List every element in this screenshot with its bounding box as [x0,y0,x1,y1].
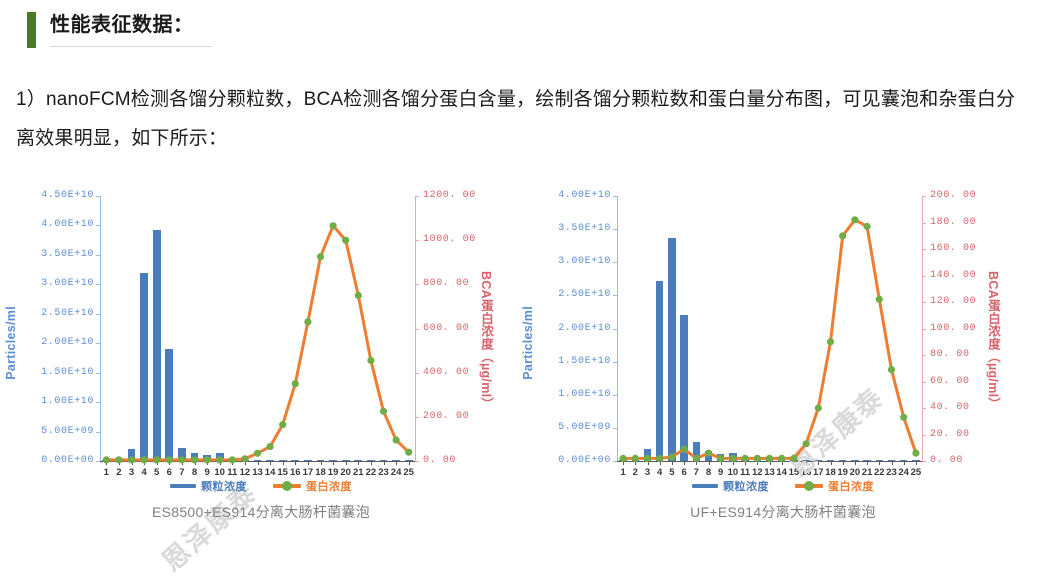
chart-particles-protein-right: 0.00E+005.00E+091.00E+101.50E+102.00E+10… [522,176,1044,476]
x-axis-tick [684,462,685,465]
bar [632,460,640,461]
bar [228,460,236,461]
legend-item-line: 蛋白浓度 [273,478,352,494]
data-point-marker [367,357,374,364]
bar [876,460,884,461]
data-point-marker [405,449,412,456]
x-axis-tick [169,462,170,465]
data-point-marker [839,232,846,239]
bar [619,460,627,461]
left-axis-tick-label: 4.00E+10 [24,219,94,230]
right-axis-tick [415,417,419,418]
bar [153,230,161,461]
bar [766,460,774,461]
data-point-marker [304,318,311,325]
bar [140,273,148,461]
bar [380,460,388,461]
figure-left: 0.00E+005.00E+091.00E+101.50E+102.00E+10… [0,176,522,534]
data-point-marker [912,450,919,457]
right-axis-tick-label: 1000. 00 [423,234,476,245]
right-axis-tick-label: 1200. 00 [423,190,476,201]
bar [778,460,786,461]
x-axis-tick [346,462,347,465]
data-point-marker [888,366,895,373]
x-axis-tick [831,462,832,465]
x-axis-tick [879,462,880,465]
left-axis-tick [96,402,100,403]
x-axis-tick [295,462,296,465]
left-axis-tick-label: 4.50E+10 [24,190,94,201]
chart-particles-protein-left: 0.00E+005.00E+091.00E+101.50E+102.00E+10… [0,176,522,476]
right-axis-tick [922,196,926,197]
bar [203,455,211,461]
right-axis-tick [415,240,419,241]
header-text-wrap: 性能表征数据： [50,12,213,47]
x-axis-tick [855,462,856,465]
x-axis-tick [843,462,844,465]
x-axis-tick [384,462,385,465]
bar [900,460,908,461]
left-axis-title: Particles/ml [4,306,18,380]
left-axis-title: Particles/ml [521,306,535,380]
right-axis-tick-label: 180. 00 [930,217,976,228]
bar [241,460,249,461]
left-axis-tick-label: 3.00E+10 [541,256,611,267]
data-point-marker [342,237,349,244]
legend-item-line: 蛋白浓度 [795,478,874,494]
right-axis-tick-label: 0. 00 [423,455,456,466]
left-axis-tick-label: 5.00E+09 [24,426,94,437]
right-axis-tick [922,461,926,462]
x-axis-tick [709,462,710,465]
legend-bar-label: 颗粒浓度 [201,478,247,494]
x-axis-tick [220,462,221,465]
left-axis-tick [96,373,100,374]
x-axis-tick-label: 25 [400,467,418,478]
data-point-marker [267,443,274,450]
x-axis-tick [818,462,819,465]
x-axis-tick [308,462,309,465]
left-axis-line [100,196,101,461]
left-axis-tick-label: 2.00E+10 [541,323,611,334]
x-axis-tick [696,462,697,465]
x-axis-tick [904,462,905,465]
page-title: 性能表征数据： [50,12,213,38]
figure-caption-left: ES8500+ES914分离大肠杆菌囊泡 [0,502,522,522]
bar [851,460,859,461]
data-point-marker [815,404,822,411]
left-axis-tick [96,432,100,433]
left-axis-tick [613,395,617,396]
data-point-marker [900,414,907,421]
left-axis-tick [96,343,100,344]
bar [115,460,123,461]
bar [392,460,400,461]
right-axis-title: BCA蛋白浓度（µg/ml） [984,271,1003,410]
bar [165,349,173,461]
right-axis-tick-label: 200. 00 [423,411,469,422]
data-point-marker [803,440,810,447]
x-axis-tick [635,462,636,465]
bar [888,460,896,461]
left-axis-tick-label: 0.00E+00 [24,455,94,466]
left-axis-tick-label: 0.00E+00 [541,455,611,466]
left-axis-tick-label: 2.00E+10 [24,337,94,348]
x-axis-tick [270,462,271,465]
bar [656,281,664,461]
x-axis-tick [867,462,868,465]
left-axis-tick-label: 4.00E+10 [541,190,611,201]
data-point-marker [330,222,337,229]
x-axis-tick [333,462,334,465]
right-axis-tick-label: 40. 00 [930,402,970,413]
title-divider [50,46,213,47]
x-axis-tick [733,462,734,465]
x-axis-tick [721,462,722,465]
bar [254,460,262,461]
bar [216,453,224,461]
x-axis-tick [892,462,893,465]
x-axis-tick [132,462,133,465]
bar [912,460,920,461]
left-axis-tick [613,362,617,363]
x-axis-tick [794,462,795,465]
right-axis-title: BCA蛋白浓度（µg/ml） [477,271,496,410]
right-axis-tick [922,329,926,330]
data-point-marker [393,436,400,443]
data-point-marker [876,296,883,303]
legend-line-swatch-icon [273,484,301,488]
bar [717,454,725,461]
right-axis-tick [415,196,419,197]
legend-line-label: 蛋白浓度 [828,478,874,494]
legend-bar-label: 颗粒浓度 [723,478,769,494]
bar [405,460,413,461]
protein-line-path [106,226,408,460]
right-axis-tick [922,382,926,383]
legend-bar-swatch-icon [170,484,196,488]
bar [802,460,810,461]
left-axis-tick [96,314,100,315]
x-axis-tick [157,462,158,465]
bar [279,460,287,461]
left-axis-tick [613,295,617,296]
right-axis-tick-label: 120. 00 [930,296,976,307]
x-axis-tick [916,462,917,465]
chart-legend-right: 颗粒浓度 蛋白浓度 [522,478,1044,494]
left-axis-tick [96,196,100,197]
data-point-marker [254,450,261,457]
right-axis-tick [415,461,419,462]
left-axis-tick-label: 2.50E+10 [24,308,94,319]
x-axis-tick [409,462,410,465]
bar [680,315,688,461]
left-axis-tick [613,229,617,230]
right-axis-tick-label: 60. 00 [930,376,970,387]
x-axis-tick [623,462,624,465]
x-axis-tick [119,462,120,465]
x-axis-tick [806,462,807,465]
right-axis-tick [922,408,926,409]
data-point-marker [292,380,299,387]
x-axis-tick [321,462,322,465]
legend-line-swatch-icon [795,484,823,488]
legend-line-label: 蛋白浓度 [306,478,352,494]
x-axis-tick [258,462,259,465]
right-axis-tick [922,276,926,277]
left-axis-tick-label: 5.00E+09 [541,422,611,433]
right-axis-tick [415,329,419,330]
left-axis-tick-label: 1.00E+10 [24,396,94,407]
right-axis-tick-label: 100. 00 [930,323,976,334]
figure-right: 0.00E+005.00E+091.00E+101.50E+102.00E+10… [522,176,1044,534]
left-axis-tick-label: 1.50E+10 [24,367,94,378]
right-axis-tick-label: 0. 00 [930,455,963,466]
x-axis-tick [648,462,649,465]
bar [317,460,325,461]
bar [863,460,871,461]
x-axis-tick [195,462,196,465]
x-axis-tick [207,462,208,465]
right-axis-tick-label: 160. 00 [930,243,976,254]
right-axis-tick [922,435,926,436]
x-axis-tick [358,462,359,465]
right-axis-tick [922,355,926,356]
bar [827,460,835,461]
x-axis-tick [660,462,661,465]
left-axis-tick [96,255,100,256]
right-axis-tick [922,302,926,303]
data-point-marker [355,292,362,299]
left-axis-tick [96,284,100,285]
bar [178,448,186,461]
x-axis-tick [396,462,397,465]
left-axis-tick [613,428,617,429]
left-axis-tick-label: 1.00E+10 [541,389,611,400]
bar [693,442,701,461]
x-axis-tick [745,462,746,465]
left-axis-tick [613,196,617,197]
x-axis-tick-label: 25 [907,467,925,478]
figures-row: 0.00E+005.00E+091.00E+101.50E+102.00E+10… [0,176,1044,534]
figure-caption-right: UF+ES914分离大肠杆菌囊泡 [522,502,1044,522]
right-axis-tick-label: 140. 00 [930,270,976,281]
data-point-marker [827,338,834,345]
bar [191,453,199,461]
data-point-marker [279,421,286,428]
right-axis-tick-label: 80. 00 [930,349,970,360]
x-axis-tick [770,462,771,465]
right-axis-tick-label: 200. 00 [930,190,976,201]
right-axis-tick-label: 20. 00 [930,429,970,440]
x-axis-tick [245,462,246,465]
right-axis-tick-label: 600. 00 [423,323,469,334]
bar [291,460,299,461]
left-axis-tick [613,262,617,263]
x-axis-tick [782,462,783,465]
bar [102,460,110,461]
bar [128,449,136,461]
protein-line-path [623,220,916,459]
bar [839,460,847,461]
bar [741,460,749,461]
left-axis-tick-label: 1.50E+10 [541,356,611,367]
x-axis-tick [232,462,233,465]
right-axis-tick-label: 400. 00 [423,367,469,378]
bar [668,238,676,461]
x-axis-tick [283,462,284,465]
data-point-marker [380,408,387,415]
bar [367,460,375,461]
body-paragraph: 1）nanoFCM检测各馏分颗粒数，BCA检测各馏分蛋白含量，绘制各馏分颗粒数和… [16,80,1032,158]
x-axis-tick [144,462,145,465]
right-axis-tick [415,373,419,374]
data-point-marker [317,253,324,260]
left-axis-tick [613,329,617,330]
bar [790,460,798,461]
right-axis-tick [922,249,926,250]
bar [644,449,652,461]
section-header: 性能表征数据： [27,12,213,48]
legend-item-bar: 颗粒浓度 [170,478,247,494]
left-axis-tick-label: 2.50E+10 [541,289,611,300]
x-axis-tick [757,462,758,465]
data-point-marker [851,216,858,223]
bar [729,453,737,461]
bar [342,460,350,461]
x-axis-tick [371,462,372,465]
left-axis-tick-label: 3.00E+10 [24,278,94,289]
bar [815,460,823,461]
bar [705,451,713,461]
right-axis-tick [415,284,419,285]
data-point-marker [864,223,871,230]
chart-legend-left: 颗粒浓度 蛋白浓度 [0,478,522,494]
bar [354,460,362,461]
x-axis-tick [672,462,673,465]
x-axis-tick [182,462,183,465]
legend-item-bar: 颗粒浓度 [692,478,769,494]
bar [754,460,762,461]
accent-bar [27,12,36,48]
bar [304,460,312,461]
right-axis-tick [922,223,926,224]
x-axis-tick [106,462,107,465]
bar [266,460,274,461]
left-axis-tick [96,225,100,226]
right-axis-tick-label: 800. 00 [423,278,469,289]
legend-bar-swatch-icon [692,484,718,488]
bar [329,460,337,461]
left-axis-line [617,196,618,461]
left-axis-tick-label: 3.50E+10 [541,223,611,234]
left-axis-tick-label: 3.50E+10 [24,249,94,260]
